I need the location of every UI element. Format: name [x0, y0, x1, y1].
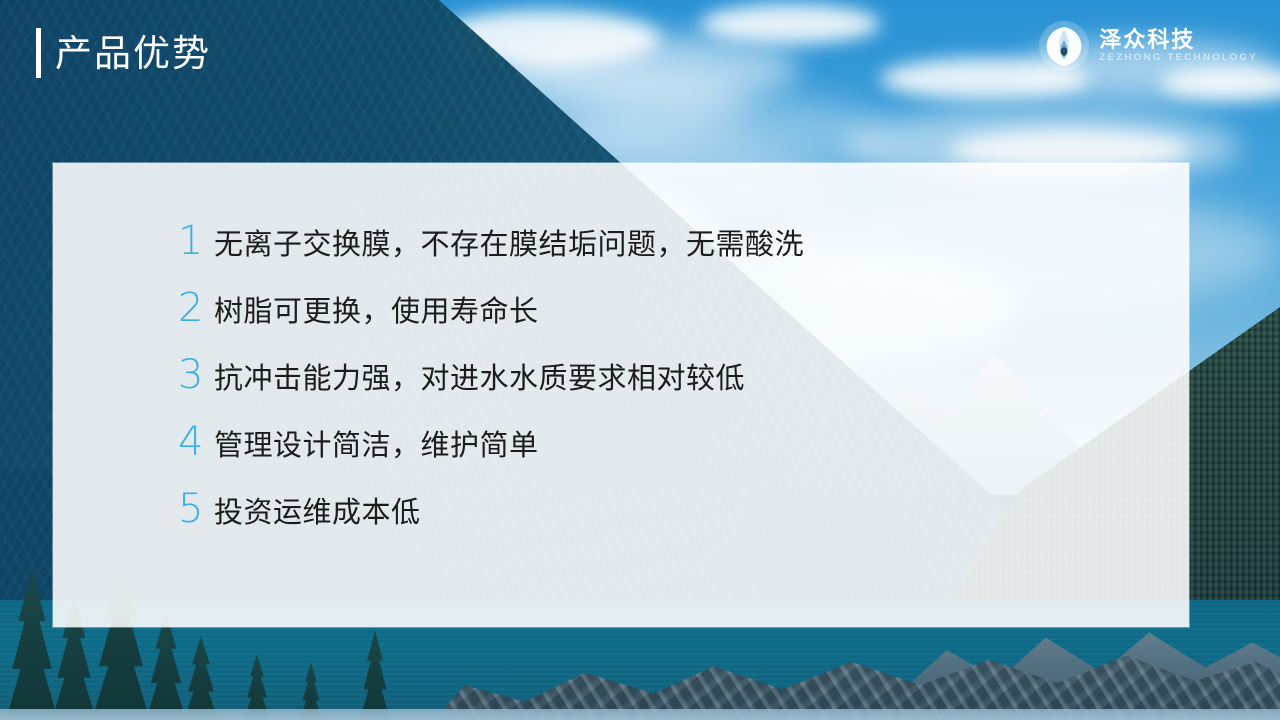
logo-name-cn: 泽众科技	[1099, 27, 1258, 52]
list-item-number: 1	[178, 221, 214, 261]
list-item-text: 投资运维成本低	[214, 499, 421, 528]
list-item: 4 管理设计简洁，维护简单	[178, 422, 1149, 489]
list-item: 1 无离子交换膜，不存在膜结垢问题，无需酸洗	[178, 221, 1149, 288]
list-item: 2 树脂可更换，使用寿命长	[178, 288, 1149, 355]
list-item-text: 抗冲击能力强，对进水水质要求相对较低	[214, 365, 745, 394]
page-title: 产品优势	[55, 35, 211, 72]
bottom-accent-strip	[0, 709, 1280, 720]
list-item-number: 5	[178, 489, 214, 529]
title-accent-bar-icon	[36, 28, 41, 78]
lotus-waterdrop-icon	[1038, 20, 1090, 72]
list-item-text: 树脂可更换，使用寿命长	[214, 298, 539, 327]
logo-name-en: ZEZHONG TECHNOLOGY	[1099, 52, 1258, 64]
title-block: 产品优势	[36, 28, 211, 78]
list-item-text: 无离子交换膜，不存在膜结垢问题，无需酸洗	[214, 231, 804, 260]
list-item-number: 3	[178, 355, 214, 395]
pine-tree-shape	[146, 612, 186, 720]
pine-tree-shape	[6, 570, 58, 720]
pine-tree-shape	[360, 630, 390, 720]
logo-text-block: 泽众科技 ZEZHONG TECHNOLOGY	[1099, 27, 1258, 65]
slide-header: 产品优势 泽众科技 ZEZHONG TECHNOLOGY	[0, 0, 1280, 110]
list-item: 5 投资运维成本低	[178, 489, 1149, 556]
brand-logo[interactable]: 泽众科技 ZEZHONG TECHNOLOGY	[1038, 20, 1258, 72]
advantages-list: 1 无离子交换膜，不存在膜结垢问题，无需酸洗 2 树脂可更换，使用寿命长 3 抗…	[178, 221, 1149, 556]
list-item-text: 管理设计简洁，维护简单	[214, 432, 539, 461]
content-panel: 1 无离子交换膜，不存在膜结垢问题，无需酸洗 2 树脂可更换，使用寿命长 3 抗…	[53, 163, 1189, 627]
slide-root: 产品优势 泽众科技 ZEZHONG TECHNOLOGY 1	[0, 0, 1280, 720]
list-item-number: 2	[178, 288, 214, 328]
pine-tree-shape	[184, 636, 218, 720]
list-item-number: 4	[178, 422, 214, 462]
list-item: 3 抗冲击能力强，对进水水质要求相对较低	[178, 355, 1149, 422]
